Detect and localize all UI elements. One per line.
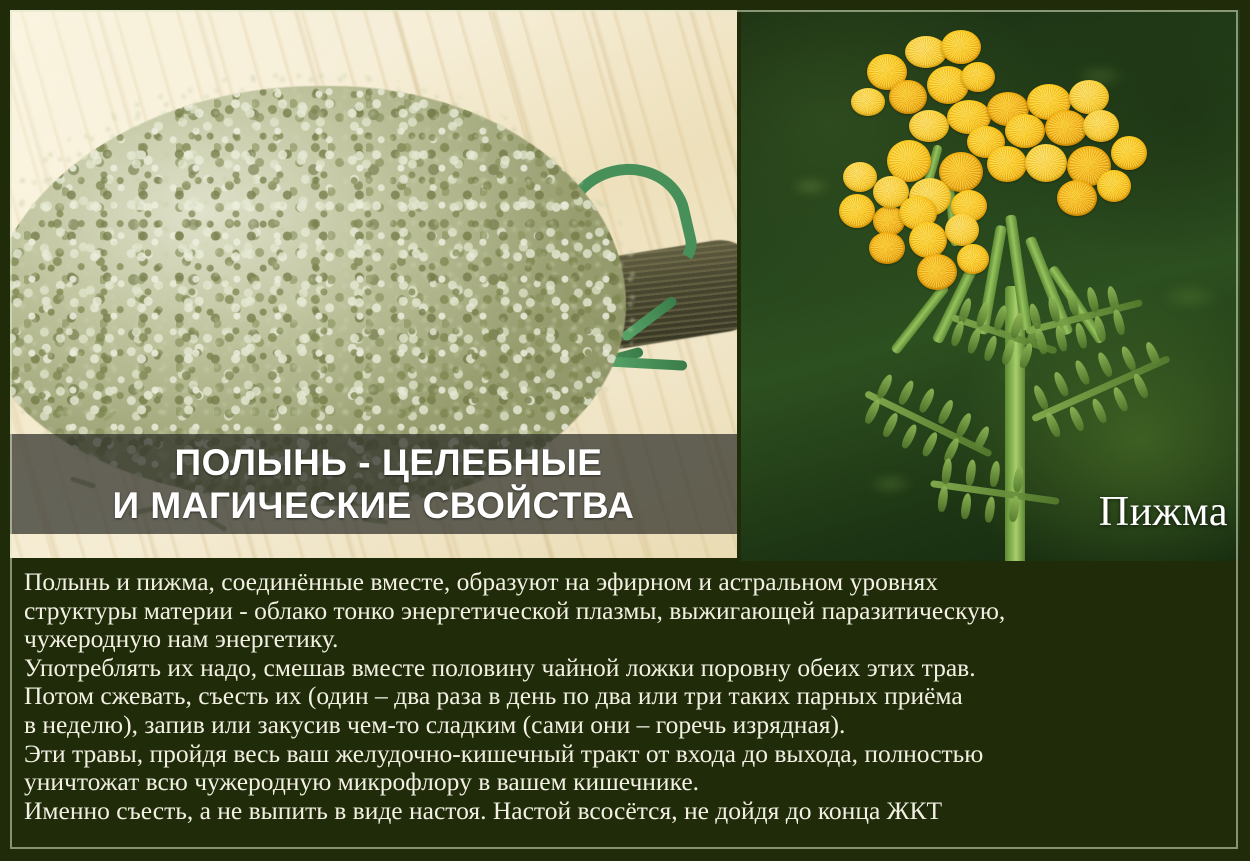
frond-pinna bbox=[1034, 328, 1049, 355]
tansy-plant bbox=[781, 18, 1211, 558]
frond-pinna bbox=[1090, 397, 1109, 424]
wormwood-caption-band: ПОЛЫНЬ - ЦЕЛЕБНЫЕ И МАГИЧЕСКИЕ СВОЙСТВА bbox=[10, 434, 737, 534]
tansy-flower bbox=[851, 88, 885, 116]
tansy-flower bbox=[905, 36, 947, 68]
frond-pinna bbox=[941, 458, 954, 485]
frond-pinna bbox=[1119, 345, 1138, 372]
body-text-line: Эти травы, пройдя весь ваш желудочно-киш… bbox=[24, 740, 1240, 769]
frond-pinna bbox=[989, 460, 1002, 487]
frond-pinna bbox=[1044, 411, 1063, 438]
tansy-flower bbox=[1057, 180, 1097, 216]
tansy-flower bbox=[1069, 80, 1109, 114]
photos-row: ПОЛЫНЬ - ЦЕЛЕБНЫЕ И МАГИЧЕСКИЕ СВОЙСТВА bbox=[10, 10, 1240, 562]
tansy-flower bbox=[1045, 110, 1087, 146]
tansy-flower bbox=[1083, 110, 1119, 142]
body-text-line: структуры материи - облако тонко энергет… bbox=[24, 597, 1240, 626]
tansy-flower bbox=[1005, 114, 1045, 148]
tansy-flower bbox=[889, 80, 927, 114]
frond-pinna bbox=[965, 459, 978, 486]
tansy-flower bbox=[839, 194, 875, 228]
body-text-line: чужеродную нам энергетику. bbox=[24, 625, 1240, 654]
tansy-label: Пижма bbox=[1099, 489, 1228, 535]
frond-pinna bbox=[1067, 405, 1086, 432]
body-text-line: Употреблять их надо, смешав вместе полов… bbox=[24, 654, 1240, 683]
body-text-line: Потом сжевать, съесть их (один – два раз… bbox=[24, 682, 1240, 711]
wormwood-caption-line-1: ПОЛЫНЬ - ЦЕЛЕБНЫЕ bbox=[145, 441, 603, 484]
frond-pinna bbox=[875, 373, 894, 400]
tansy-flower bbox=[1025, 144, 1067, 182]
tansy-flower bbox=[909, 222, 947, 258]
frond-pinna bbox=[897, 379, 916, 406]
body-text-line: Именно съесть, а не выпить в виде настоя… bbox=[24, 797, 1240, 826]
frond-pinna bbox=[920, 431, 939, 458]
tansy-flower bbox=[987, 146, 1027, 182]
frond-pinna bbox=[984, 496, 997, 523]
tansy-flower bbox=[843, 162, 877, 192]
frond-pinna bbox=[936, 398, 955, 425]
frond-pinna bbox=[1031, 384, 1050, 411]
frond-pinna bbox=[1131, 372, 1150, 399]
body-text-block: Полынь и пижма, соединённые вместе, обра… bbox=[10, 562, 1240, 851]
tansy-flower bbox=[869, 232, 905, 264]
wormwood-caption-line-2: И МАГИЧЕСКИЕ СВОЙСТВА bbox=[113, 484, 635, 527]
frond-pinna bbox=[954, 411, 973, 438]
body-text-line: Полынь и пижма, соединённые вместе, обра… bbox=[24, 568, 1240, 597]
frond-pinna bbox=[1111, 385, 1130, 412]
frond-pinna bbox=[917, 387, 936, 414]
frond-pinna bbox=[949, 320, 966, 348]
tansy-flower bbox=[961, 62, 995, 92]
tansy-flower bbox=[1097, 170, 1131, 202]
tansy-flower bbox=[957, 244, 989, 274]
frond-pinna bbox=[1052, 370, 1071, 397]
frond-pinna bbox=[1096, 351, 1115, 378]
frond-pinna bbox=[937, 485, 950, 512]
wormwood-photo: ПОЛЫНЬ - ЦЕЛЕБНЫЕ И МАГИЧЕСКИЕ СВОЙСТВА bbox=[10, 10, 737, 558]
frond-pinna bbox=[863, 398, 882, 425]
herb-infographic-poster: ПОЛЫНЬ - ЦЕЛЕБНЫЕ И МАГИЧЕСКИЕ СВОЙСТВА bbox=[0, 0, 1250, 861]
tansy-flower bbox=[909, 110, 949, 142]
frond-pinna bbox=[960, 493, 973, 520]
body-text-line: в неделю), запив или закусив чем-то слад… bbox=[24, 711, 1240, 740]
frond-pinna bbox=[881, 411, 900, 438]
frond-pinna bbox=[1085, 286, 1100, 313]
frond-pinna bbox=[900, 423, 919, 450]
frond-pinna bbox=[966, 327, 983, 355]
tansy-flower bbox=[917, 254, 957, 290]
tansy-flower bbox=[941, 30, 981, 64]
frond-pinna bbox=[1111, 308, 1126, 335]
tansy-photo: Пижма bbox=[741, 10, 1240, 561]
frond-pinna bbox=[1073, 359, 1092, 386]
tansy-flower bbox=[945, 214, 979, 246]
frond-pinna bbox=[982, 335, 999, 363]
body-text-line: уничтожат всю чужеродную микрофлору в ва… bbox=[24, 768, 1240, 797]
tansy-flower bbox=[1111, 136, 1147, 170]
